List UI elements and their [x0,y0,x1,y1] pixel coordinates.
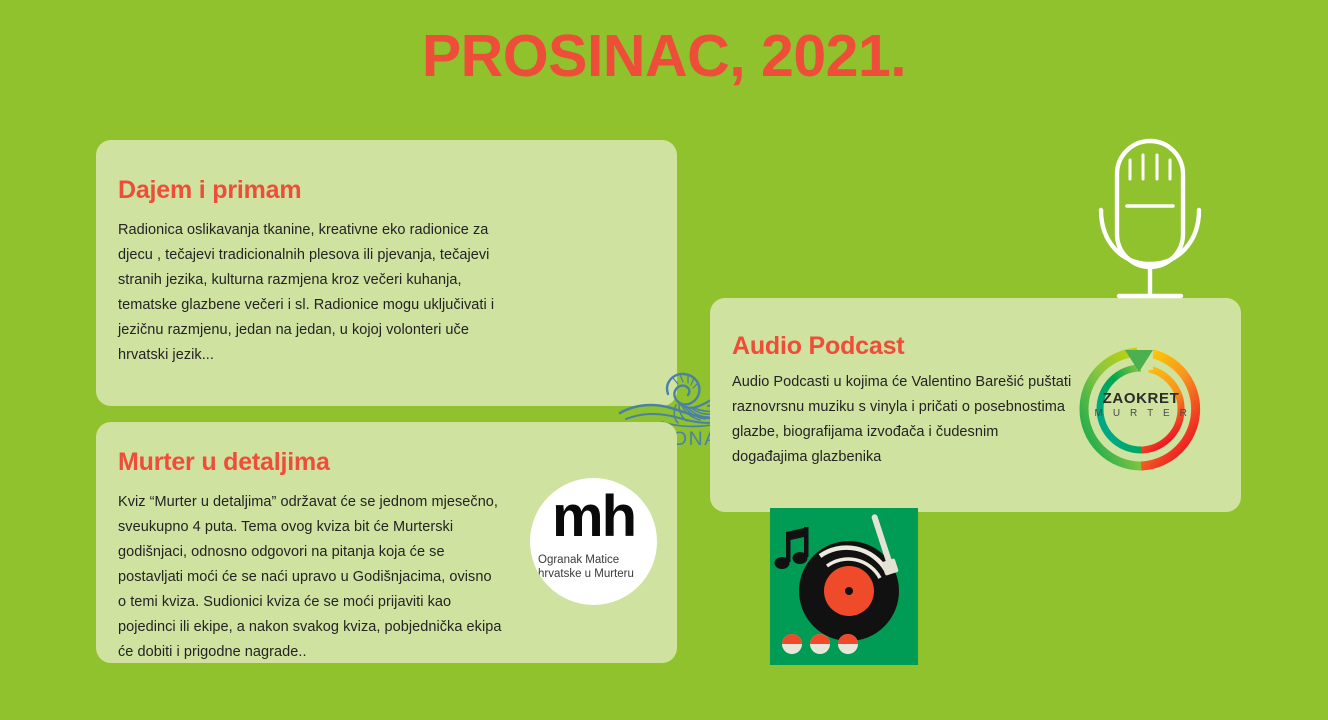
card-dajem-i-primam: Dajem i primam Radionica oslikavanja tka… [96,140,677,406]
matica-hrvatska-logo: mh Ogranak Matice hrvatske u Murteru [530,478,657,605]
card-body-murter-u-detaljima: Kviz “Murter u detaljima” održavat će se… [118,490,503,665]
page-title: PROSINAC, 2021. [0,26,1328,88]
microphone-icon [1085,136,1215,306]
card-title-murter-u-detaljima: Murter u detaljima [118,448,330,477]
zaokret-murter-logo: ZAOKRET M U R T E R [1063,342,1219,476]
matica-hrvatska-mark: mh [530,488,657,546]
matica-hrvatska-caption-line1: Ogranak Matice [538,553,657,567]
card-title-dajem-i-primam: Dajem i primam [118,176,301,205]
matica-hrvatska-caption: Ogranak Matice hrvatske u Murteru [538,553,657,581]
card-body-dajem-i-primam: Radionica oslikavanja tkanine, kreativne… [118,218,518,368]
card-title-audio-podcast: Audio Podcast [732,332,904,361]
turntable-icon [770,508,918,665]
control-knobs [782,634,858,654]
poster-canvas: PROSINAC, 2021. Dajem i primam Radionica… [0,0,1328,720]
zaokret-ring-icon [1063,342,1219,476]
matica-hrvatska-caption-line2: hrvatske u Murteru [538,567,657,581]
card-body-audio-podcast: Audio Podcasti u kojima će Valentino Bar… [732,370,1077,470]
